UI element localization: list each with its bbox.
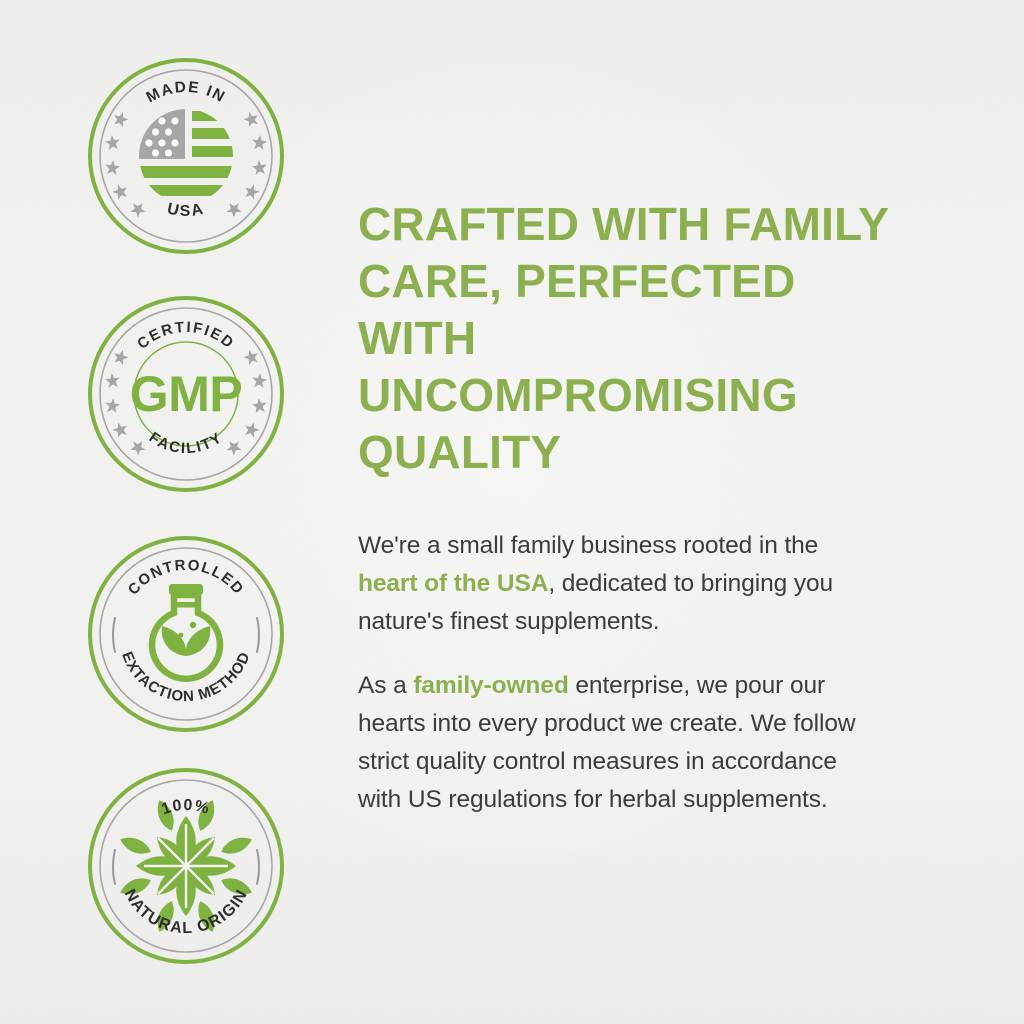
leaf-rosette-icon: 100% NATURAL ORIGIN <box>86 766 286 966</box>
emphasized-phrase: heart of the USA <box>358 570 548 597</box>
body-copy: We're a small family business rooted in … <box>358 527 883 819</box>
page-headline: CRAFTED WITH FAMILY CARE, PERFECTED WITH… <box>358 196 923 481</box>
usa-flag-icon: MADE IN USA <box>86 56 286 256</box>
right-arc-accent <box>257 850 259 884</box>
body-paragraph: As a family-owned enterprise, we pour ou… <box>358 667 883 819</box>
left-arc-accent <box>113 618 115 652</box>
svg-text:FACILITY: FACILITY <box>146 429 226 457</box>
certification-badge-column: MADE IN USA <box>86 56 306 986</box>
badge-gmp-certified-facility: GMP CERTIFIED FACILITY <box>86 294 286 494</box>
paragraph-text: As a <box>358 672 413 699</box>
badge-natural-origin: 100% NATURAL ORIGIN <box>86 766 286 966</box>
content-column: CRAFTED WITH FAMILY CARE, PERFECTED WITH… <box>358 196 918 819</box>
badge-bottom-text: FACILITY <box>146 429 226 457</box>
flask-leaf-icon: CONTROLLED EXTACTION METHOD <box>86 534 286 734</box>
svg-text:MADE IN: MADE IN <box>144 79 229 107</box>
left-arc-accent <box>113 850 115 884</box>
body-paragraph: We're a small family business rooted in … <box>358 527 883 641</box>
infographic-page: MADE IN USA <box>0 0 1024 1024</box>
badge-bottom-text: USA <box>166 200 207 220</box>
badge-controlled-extraction-method: CONTROLLED EXTACTION METHOD <box>86 534 286 734</box>
paragraph-text: We're a small family business rooted in … <box>358 532 818 559</box>
svg-text:100%: 100% <box>159 797 212 818</box>
right-arc-accent <box>257 618 259 652</box>
emphasized-phrase: family-owned <box>413 672 568 699</box>
star-ring <box>103 109 268 219</box>
gmp-text-icon: GMP CERTIFIED FACILITY <box>86 294 286 494</box>
gmp-center-label: GMP <box>130 366 242 422</box>
svg-text:USA: USA <box>166 200 207 220</box>
flask-graphic <box>152 584 220 679</box>
badge-top-text: 100% <box>159 797 212 818</box>
badge-top-text: CERTIFIED <box>134 319 238 353</box>
badge-top-text: MADE IN <box>144 79 229 107</box>
flag-emblem <box>139 109 234 196</box>
svg-text:CERTIFIED: CERTIFIED <box>134 319 238 353</box>
badge-made-in-usa: MADE IN USA <box>86 56 286 256</box>
